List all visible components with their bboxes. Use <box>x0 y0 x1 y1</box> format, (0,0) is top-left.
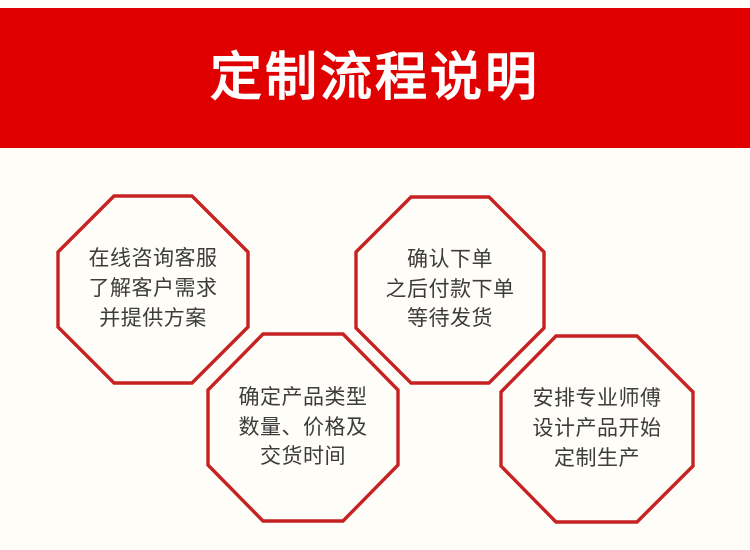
page-root: 定制流程说明 在线咨询客服 了解客户需求 并提供方案 确认下单 之后付款下单 等… <box>0 0 750 550</box>
flow-step-2-line-1: 确认下单 <box>407 245 493 275</box>
page-title: 定制流程说明 <box>210 52 540 104</box>
flow-step-3-line-3: 交货时间 <box>260 442 346 472</box>
flow-step-4-line-3: 定制生产 <box>554 444 640 474</box>
flow-step-1-line-3: 并提供方案 <box>99 304 207 334</box>
header-banner: 定制流程说明 <box>0 8 750 148</box>
flow-step-4-line-2: 设计产品开始 <box>533 414 662 444</box>
flow-step-1-line-1: 在线咨询客服 <box>89 244 218 274</box>
flow-step-2-line-2: 之后付款下单 <box>386 275 515 305</box>
flow-step-3[interactable]: 确定产品类型 数量、价格及 交货时间 <box>208 334 398 521</box>
flow-step-3-line-2: 数量、价格及 <box>239 413 368 443</box>
flow-diagram: 在线咨询客服 了解客户需求 并提供方案 确认下单 之后付款下单 等待发货 确定产… <box>0 148 750 550</box>
flow-step-2-line-3: 等待发货 <box>407 304 493 334</box>
flow-step-1-line-2: 了解客户需求 <box>89 274 218 304</box>
flow-step-3-line-1: 确定产品类型 <box>239 383 368 413</box>
flow-step-4-line-1: 安排专业师傅 <box>533 384 662 414</box>
flow-step-4[interactable]: 安排专业师傅 设计产品开始 定制生产 <box>501 336 693 522</box>
